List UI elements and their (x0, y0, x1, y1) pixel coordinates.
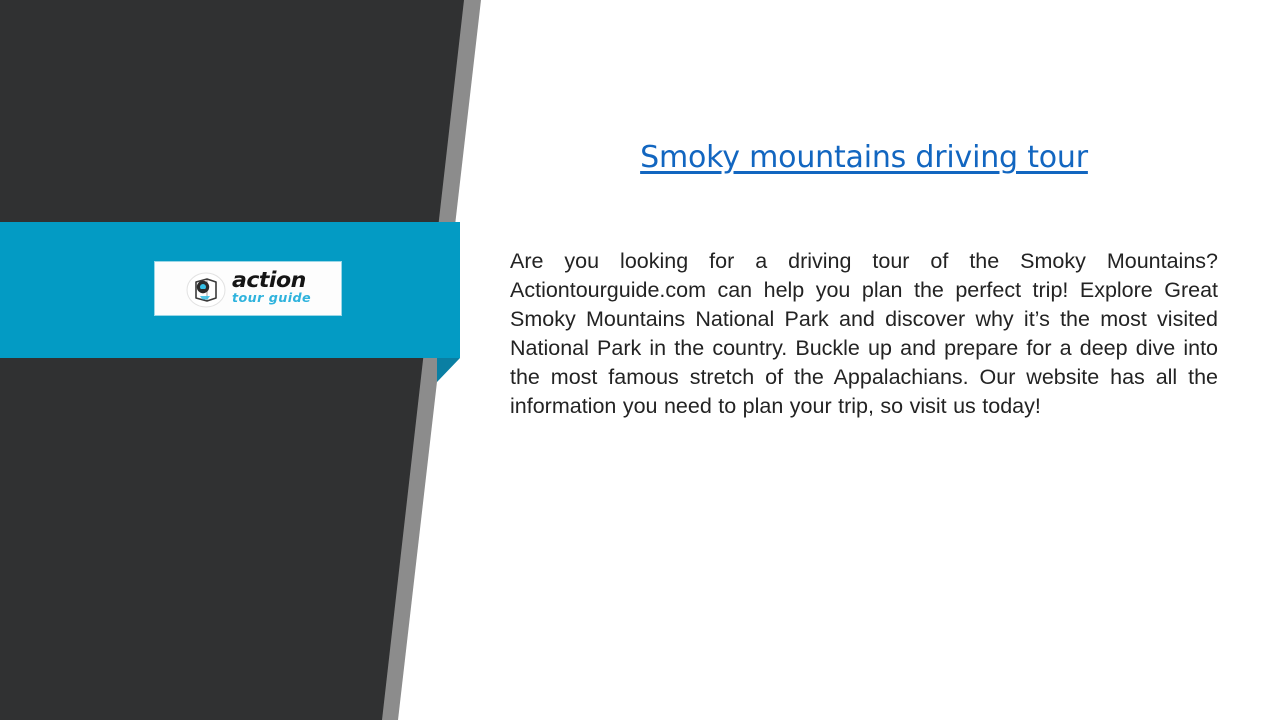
map-location-pin-icon (186, 270, 226, 308)
brand-wordmark: action tour guide (232, 270, 310, 305)
brand-name-text: action (232, 270, 306, 291)
body-paragraph: Are you looking for a driving tour of th… (510, 247, 1218, 421)
content-area: Smoky mountains driving tour Are you loo… (510, 0, 1218, 720)
slide-canvas: action tour guide Smoky mountains drivin… (0, 0, 1280, 720)
brand-tagline-text: tour guide (232, 292, 311, 305)
ribbon-fold-corner (437, 358, 460, 382)
title-link[interactable]: Smoky mountains driving tour (640, 140, 1088, 175)
page-title: Smoky mountains driving tour (510, 140, 1218, 175)
brand-logo-card[interactable]: action tour guide (155, 262, 341, 315)
